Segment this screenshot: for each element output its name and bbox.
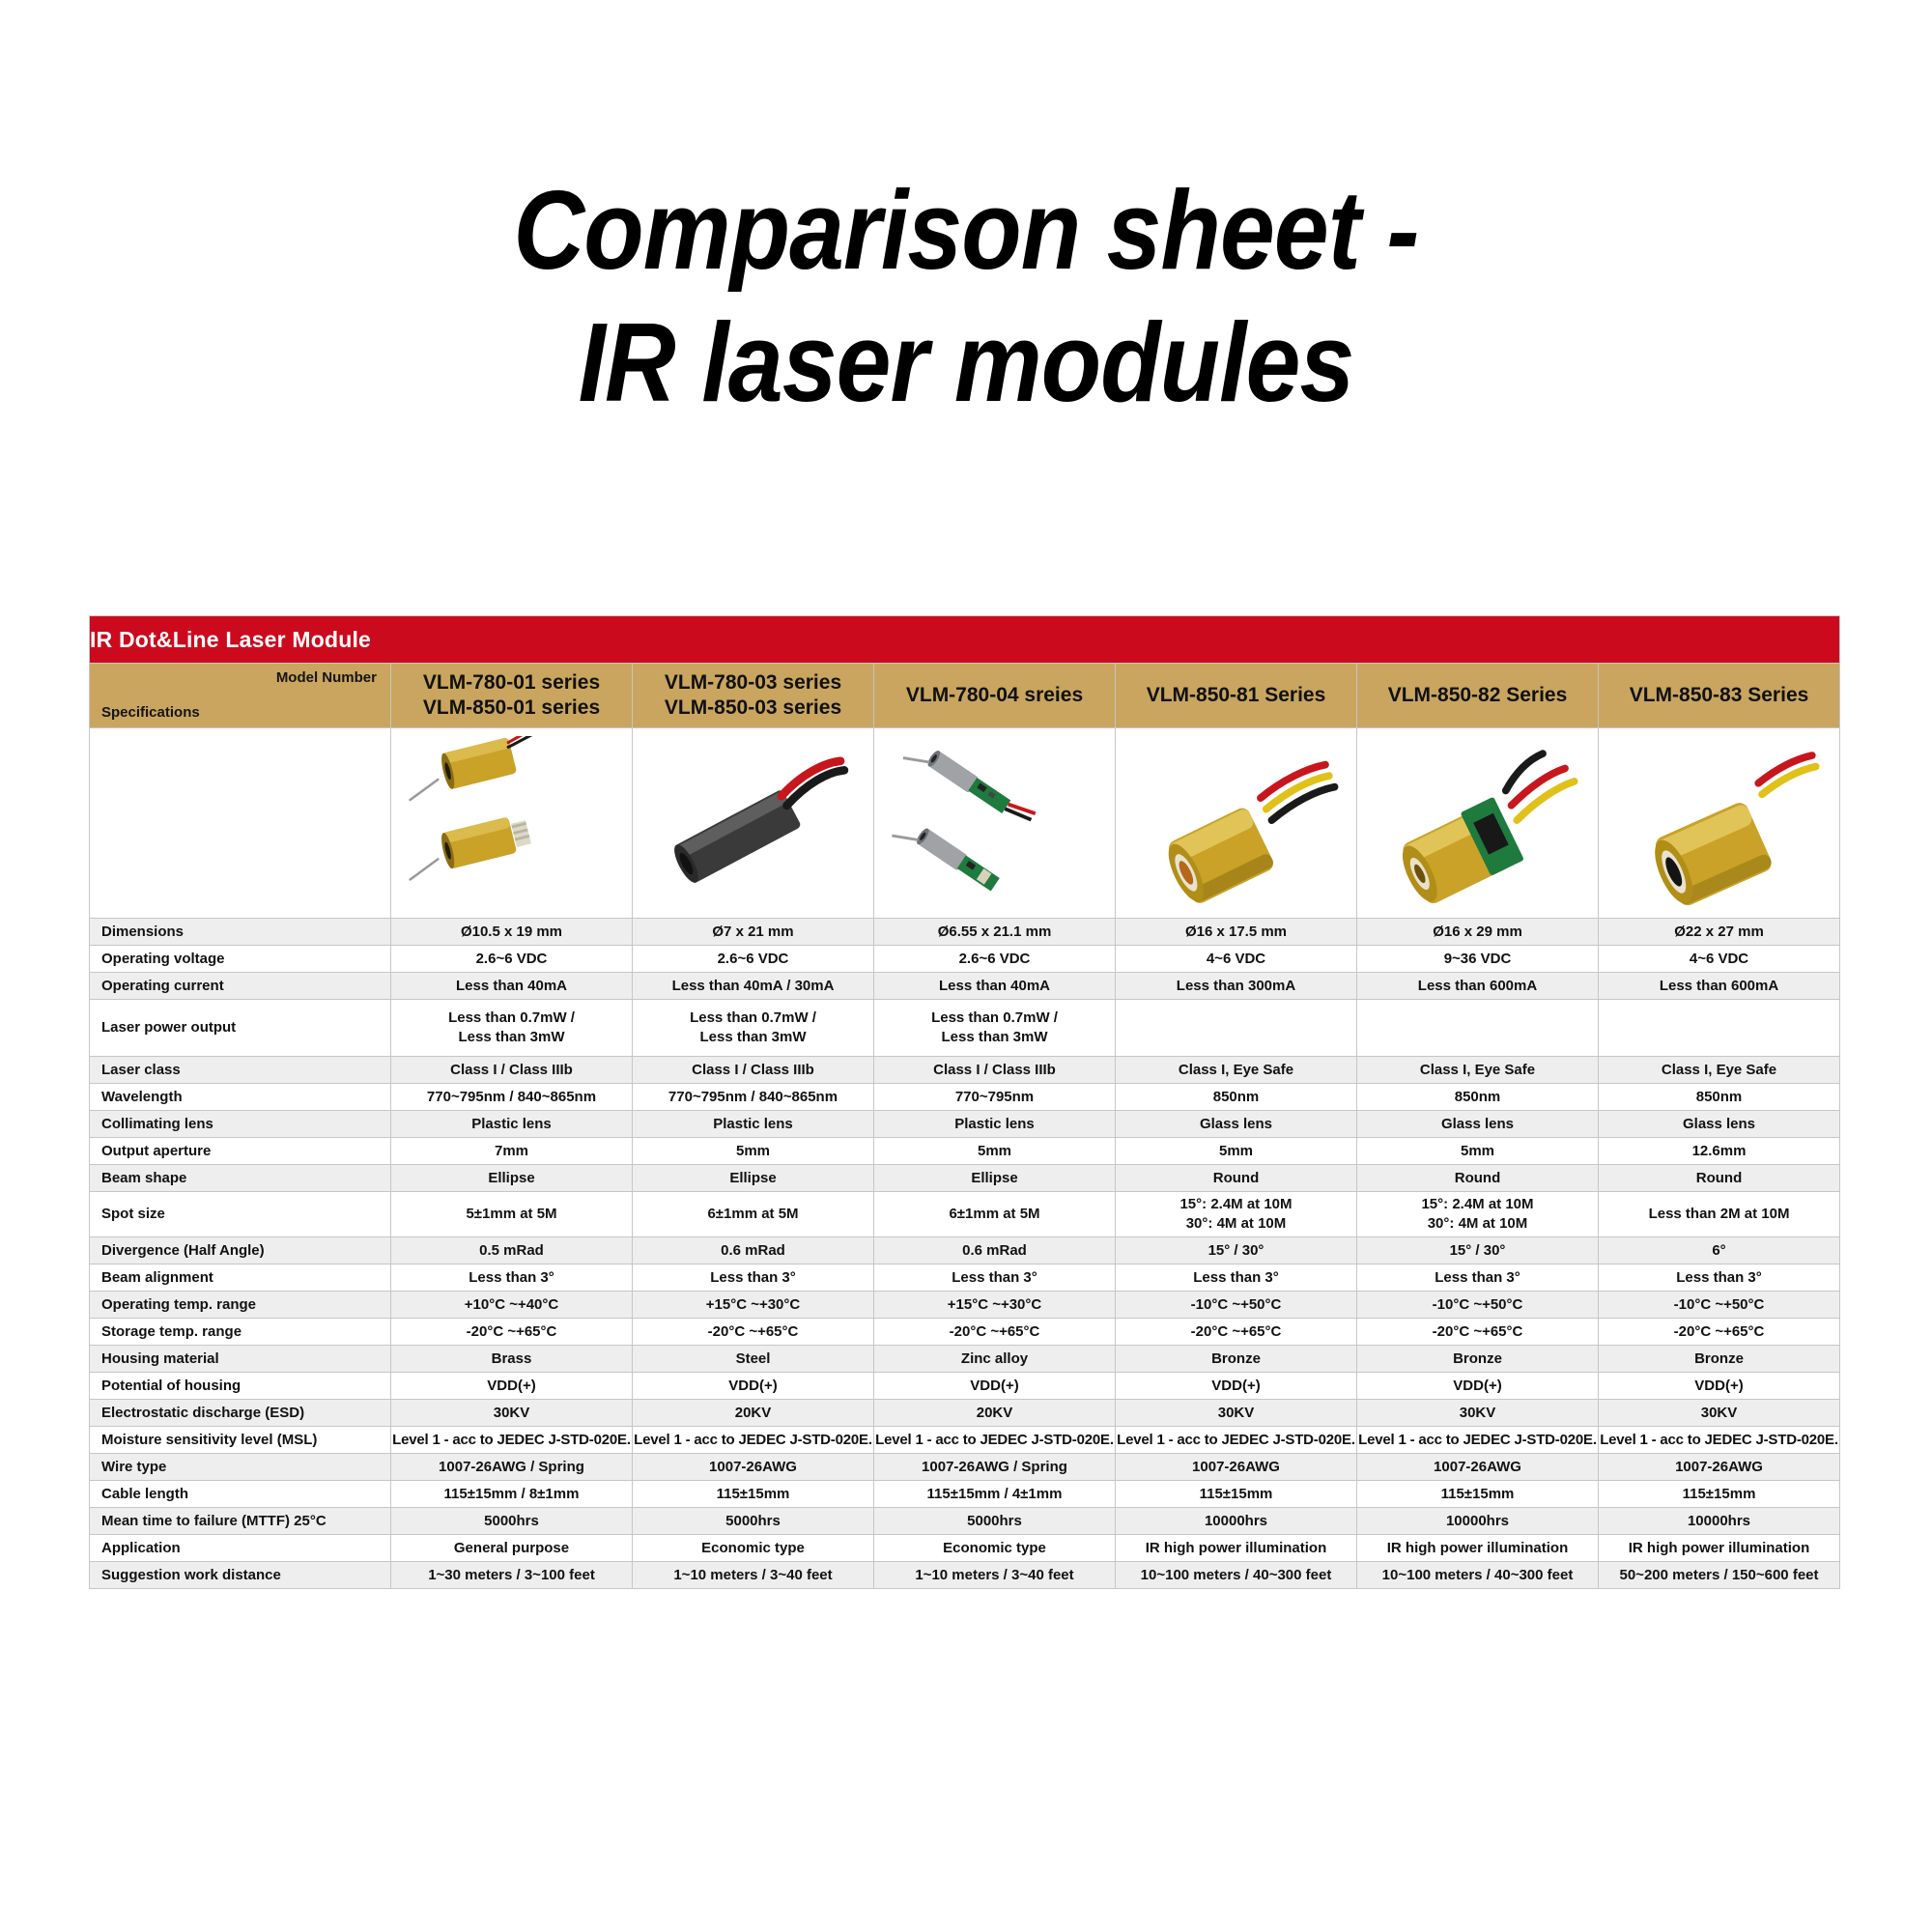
cell-col4 [1116, 1000, 1357, 1057]
table-row: Output aperture7mm5mm5mm5mm5mm12.6mm [90, 1138, 1840, 1165]
cell-col2: Economic type [633, 1535, 874, 1562]
cell-col6: IR high power illumination [1599, 1535, 1840, 1562]
table-row: Operating voltage2.6~6 VDC2.6~6 VDC2.6~6… [90, 946, 1840, 973]
cell-col4: Less than 300mA [1116, 973, 1357, 1000]
row-label: Divergence (Half Angle) [90, 1237, 391, 1264]
cell-col4: -20°C ~+65°C [1116, 1319, 1357, 1346]
cell-col6: 1007-26AWG [1599, 1454, 1840, 1481]
cell-col6: Less than 600mA [1599, 973, 1840, 1000]
specifications-label: Specifications [101, 704, 200, 722]
cell-col6: -10°C ~+50°C [1599, 1292, 1840, 1319]
row-label: Output aperture [90, 1138, 391, 1165]
cell-col6: 12.6mm [1599, 1138, 1840, 1165]
row-label: Spot size [90, 1192, 391, 1237]
cell-col4: Bronze [1116, 1346, 1357, 1373]
cell-col5: 30KV [1357, 1400, 1599, 1427]
cell-col2: Less than 3° [633, 1264, 874, 1292]
cell-col2: Plastic lens [633, 1111, 874, 1138]
column-header-col2[interactable]: VLM-780-03 seriesVLM-850-03 series [633, 664, 874, 728]
cell-line: Less than 3mW [633, 1028, 873, 1047]
cell-col6: -20°C ~+65°C [1599, 1319, 1840, 1346]
cell-col4: Class I, Eye Safe [1116, 1057, 1357, 1084]
cell-col5: 15°: 2.4M at 10M30°: 4M at 10M [1357, 1192, 1599, 1237]
cell-col6: VDD(+) [1599, 1373, 1840, 1400]
cell-col6: Ø22 x 27 mm [1599, 919, 1840, 946]
cell-col1: 2.6~6 VDC [391, 946, 633, 973]
cell-col1: 5000hrs [391, 1508, 633, 1535]
row-label: Operating current [90, 973, 391, 1000]
cell-col1: Less than 0.7mW /Less than 3mW [391, 1000, 633, 1057]
cell-line: Less than 3mW [391, 1028, 632, 1047]
cell-line: Less than 2M at 10M [1599, 1205, 1839, 1224]
cell-col2: Ellipse [633, 1165, 874, 1192]
column-header-line: VLM-780-03 series [633, 670, 873, 696]
cell-col1: 0.5 mRad [391, 1237, 633, 1264]
table-row: Beam alignmentLess than 3°Less than 3°Le… [90, 1264, 1840, 1292]
table-row: Spot size5±1mm at 5M6±1mm at 5M6±1mm at … [90, 1192, 1840, 1237]
cell-col3: Level 1 - acc to JEDEC J-STD-020E. [874, 1427, 1116, 1454]
cell-col5: 5mm [1357, 1138, 1599, 1165]
product-image-cell-col4 [1116, 728, 1357, 919]
cell-col1: 1~30 meters / 3~100 feet [391, 1562, 633, 1589]
table-band-row: IR Dot&Line Laser Module [90, 616, 1840, 664]
row-label: Dimensions [90, 919, 391, 946]
cell-col5: Round [1357, 1165, 1599, 1192]
cell-col3: Class I / Class IIIb [874, 1057, 1116, 1084]
cell-col5: Ø16 x 29 mm [1357, 919, 1599, 946]
cell-col2: 1~10 meters / 3~40 feet [633, 1562, 874, 1589]
column-header-line: VLM-850-82 Series [1357, 683, 1598, 708]
cell-col1: Plastic lens [391, 1111, 633, 1138]
column-header-line: VLM-850-83 Series [1599, 683, 1839, 708]
cell-col5: -20°C ~+65°C [1357, 1319, 1599, 1346]
cell-col6: Level 1 - acc to JEDEC J-STD-020E. [1599, 1427, 1840, 1454]
cell-line: 5±1mm at 5M [391, 1205, 632, 1224]
cell-col2: Less than 0.7mW /Less than 3mW [633, 1000, 874, 1057]
table-row: Storage temp. range-20°C ~+65°C-20°C ~+6… [90, 1319, 1840, 1346]
cell-col2: 6±1mm at 5M [633, 1192, 874, 1237]
cell-col4: 5mm [1116, 1138, 1357, 1165]
cell-line: Less than 3mW [874, 1028, 1115, 1047]
brass-barrel-pcb-laser-icon [1357, 732, 1598, 914]
cell-col5: 10000hrs [1357, 1508, 1599, 1535]
cell-col4: Glass lens [1116, 1111, 1357, 1138]
cell-col2: 5mm [633, 1138, 874, 1165]
table-row: Moisture sensitivity level (MSL)Level 1 … [90, 1427, 1840, 1454]
cell-col1: Class I / Class IIIb [391, 1057, 633, 1084]
product-image-cell-col2 [633, 728, 874, 919]
cell-line: 30°: 4M at 10M [1116, 1214, 1356, 1234]
cell-col1: General purpose [391, 1535, 633, 1562]
cell-col1: VDD(+) [391, 1373, 633, 1400]
table-row: Operating temp. range+10°C ~+40°C+15°C ~… [90, 1292, 1840, 1319]
table-row: Suggestion work distance1~30 meters / 3~… [90, 1562, 1840, 1589]
product-image-cell-col1 [391, 728, 633, 919]
cell-col3: Zinc alloy [874, 1346, 1116, 1373]
cell-col1: Ellipse [391, 1165, 633, 1192]
table-row: DimensionsØ10.5 x 19 mmØ7 x 21 mmØ6.55 x… [90, 919, 1840, 946]
band-label: IR Dot&Line Laser Module [90, 616, 1840, 664]
cell-col4: Less than 3° [1116, 1264, 1357, 1292]
cell-col2: Steel [633, 1346, 874, 1373]
cell-col6 [1599, 1000, 1840, 1057]
cell-line: 30°: 4M at 10M [1357, 1214, 1598, 1234]
column-header-line: VLM-780-04 sreies [874, 683, 1115, 708]
cell-col5: Glass lens [1357, 1111, 1599, 1138]
cell-col2: -20°C ~+65°C [633, 1319, 874, 1346]
column-header-line: VLM-850-03 series [633, 696, 873, 721]
product-image-cell-col3 [874, 728, 1116, 919]
product-image-row [90, 728, 1840, 919]
comparison-sheet-page: Comparison sheet - IR laser modules IR D… [0, 0, 1932, 1932]
cell-col2: +15°C ~+30°C [633, 1292, 874, 1319]
cell-col3: Less than 40mA [874, 973, 1116, 1000]
cell-col1: 770~795nm / 840~865nm [391, 1084, 633, 1111]
cell-line: Less than 0.7mW / [874, 1009, 1115, 1028]
cell-col1: Ø10.5 x 19 mm [391, 919, 633, 946]
table-row: Laser power outputLess than 0.7mW /Less … [90, 1000, 1840, 1057]
cell-col1: Less than 3° [391, 1264, 633, 1292]
table-row: Laser classClass I / Class IIIbClass I /… [90, 1057, 1840, 1084]
cell-col3: VDD(+) [874, 1373, 1116, 1400]
cell-col1: 7mm [391, 1138, 633, 1165]
column-header-line: VLM-850-01 series [391, 696, 632, 721]
pcb-open-frame-laser-pair-icon [874, 732, 1115, 914]
cell-col1: +10°C ~+40°C [391, 1292, 633, 1319]
row-label: Laser power output [90, 1000, 391, 1057]
cell-col4: -10°C ~+50°C [1116, 1292, 1357, 1319]
table-row: ApplicationGeneral purposeEconomic typeE… [90, 1535, 1840, 1562]
cell-col1: Less than 40mA [391, 973, 633, 1000]
cell-col6: 30KV [1599, 1400, 1840, 1427]
table-row: Cable length115±15mm / 8±1mm115±15mm115±… [90, 1481, 1840, 1508]
cell-col5: Bronze [1357, 1346, 1599, 1373]
cell-line: Less than 0.7mW / [633, 1009, 873, 1028]
row-label: Potential of housing [90, 1373, 391, 1400]
row-label: Wavelength [90, 1084, 391, 1111]
cell-col4: Round [1116, 1165, 1357, 1192]
page-title-line-2: IR laser modules [116, 297, 1816, 429]
column-header-line: VLM-850-81 Series [1116, 683, 1356, 708]
column-header-line: VLM-780-01 series [391, 670, 632, 696]
page-title-line-1: Comparison sheet - [116, 164, 1816, 297]
cell-col3: Ellipse [874, 1165, 1116, 1192]
row-label: Mean time to failure (MTTF) 25°C [90, 1508, 391, 1535]
comparison-table: IR Dot&Line Laser ModuleModel NumberSpec… [89, 615, 1840, 1589]
cell-col6: Less than 3° [1599, 1264, 1840, 1292]
cell-col5: Less than 3° [1357, 1264, 1599, 1292]
cell-col1: -20°C ~+65°C [391, 1319, 633, 1346]
cell-col5: 850nm [1357, 1084, 1599, 1111]
cell-col5: 1007-26AWG [1357, 1454, 1599, 1481]
cell-col4: 850nm [1116, 1084, 1357, 1111]
row-label: Suggestion work distance [90, 1562, 391, 1589]
product-image-cell-col6 [1599, 728, 1840, 919]
cell-col5: Class I, Eye Safe [1357, 1057, 1599, 1084]
table-row: Wire type1007-26AWG / Spring1007-26AWG10… [90, 1454, 1840, 1481]
comparison-table-body: IR Dot&Line Laser ModuleModel NumberSpec… [90, 616, 1840, 1589]
comparison-table-wrapper: IR Dot&Line Laser ModuleModel NumberSpec… [89, 615, 1839, 1589]
cell-col3: Economic type [874, 1535, 1116, 1562]
cell-col6: Glass lens [1599, 1111, 1840, 1138]
cell-col3: -20°C ~+65°C [874, 1319, 1116, 1346]
cell-col1: 5±1mm at 5M [391, 1192, 633, 1237]
cell-col2: 1007-26AWG [633, 1454, 874, 1481]
cell-col1: 115±15mm / 8±1mm [391, 1481, 633, 1508]
cell-col4: IR high power illumination [1116, 1535, 1357, 1562]
cell-col4: 15° / 30° [1116, 1237, 1357, 1264]
row-label: Application [90, 1535, 391, 1562]
column-header-col4[interactable]: VLM-850-81 Series [1116, 664, 1357, 728]
model-number-label: Model Number [276, 669, 377, 687]
table-row: Beam shapeEllipseEllipseEllipseRoundRoun… [90, 1165, 1840, 1192]
row-label: Storage temp. range [90, 1319, 391, 1346]
column-header-col3[interactable]: VLM-780-04 sreies [874, 664, 1116, 728]
cell-col3: 1007-26AWG / Spring [874, 1454, 1116, 1481]
cell-col2: 115±15mm [633, 1481, 874, 1508]
cell-col5: Level 1 - acc to JEDEC J-STD-020E. [1357, 1427, 1599, 1454]
cell-line: 6±1mm at 5M [633, 1205, 873, 1224]
cell-line: 15°: 2.4M at 10M [1357, 1195, 1598, 1214]
cell-col4: 10000hrs [1116, 1508, 1357, 1535]
cell-col1: 1007-26AWG / Spring [391, 1454, 633, 1481]
cell-col1: Brass [391, 1346, 633, 1373]
cell-line: 6±1mm at 5M [874, 1205, 1115, 1224]
row-label: Cable length [90, 1481, 391, 1508]
cell-col3: 2.6~6 VDC [874, 946, 1116, 973]
cell-col2: Less than 40mA / 30mA [633, 973, 874, 1000]
cell-col1: 30KV [391, 1400, 633, 1427]
table-row: Divergence (Half Angle)0.5 mRad0.6 mRad0… [90, 1237, 1840, 1264]
column-header-col5[interactable]: VLM-850-82 Series [1357, 664, 1599, 728]
table-row: Wavelength770~795nm / 840~865nm770~795nm… [90, 1084, 1840, 1111]
product-image-cell-col5 [1357, 728, 1599, 919]
cell-col5: IR high power illumination [1357, 1535, 1599, 1562]
cell-col4: VDD(+) [1116, 1373, 1357, 1400]
cell-col4: 1007-26AWG [1116, 1454, 1357, 1481]
cell-col6: 115±15mm [1599, 1481, 1840, 1508]
cell-col2: 0.6 mRad [633, 1237, 874, 1264]
cell-col5: 115±15mm [1357, 1481, 1599, 1508]
cell-col3: Ø6.55 x 21.1 mm [874, 919, 1116, 946]
cell-col2: 770~795nm / 840~865nm [633, 1084, 874, 1111]
cell-col5: -10°C ~+50°C [1357, 1292, 1599, 1319]
cell-col5 [1357, 1000, 1599, 1057]
cell-col6: Round [1599, 1165, 1840, 1192]
cell-col3: 770~795nm [874, 1084, 1116, 1111]
cell-col6: 50~200 meters / 150~600 feet [1599, 1562, 1840, 1589]
brass-dot-laser-pair-icon [391, 732, 632, 914]
cell-col3: 0.6 mRad [874, 1237, 1116, 1264]
cell-col4: Level 1 - acc to JEDEC J-STD-020E. [1116, 1427, 1357, 1454]
brass-wide-barrel-laser-icon [1599, 732, 1839, 914]
cell-col6: Bronze [1599, 1346, 1840, 1373]
table-row: Electrostatic discharge (ESD)30KV20KV20K… [90, 1400, 1840, 1427]
cell-line: 15°: 2.4M at 10M [1116, 1195, 1356, 1214]
row-label: Moisture sensitivity level (MSL) [90, 1427, 391, 1454]
column-header-col6[interactable]: VLM-850-83 Series [1599, 664, 1840, 728]
cell-col4: Ø16 x 17.5 mm [1116, 919, 1357, 946]
cell-col3: Less than 3° [874, 1264, 1116, 1292]
row-label: Beam alignment [90, 1264, 391, 1292]
cell-col2: Ø7 x 21 mm [633, 919, 874, 946]
product-image-row-spacer [90, 728, 391, 919]
row-label: Electrostatic discharge (ESD) [90, 1400, 391, 1427]
table-header-row: Model NumberSpecificationsVLM-780-01 ser… [90, 664, 1840, 728]
cell-col6: Class I, Eye Safe [1599, 1057, 1840, 1084]
cell-col3: 115±15mm / 4±1mm [874, 1481, 1116, 1508]
cell-col4: 115±15mm [1116, 1481, 1357, 1508]
spec-corner-cell: Model NumberSpecifications [90, 664, 391, 728]
table-row: Housing materialBrassSteelZinc alloyBron… [90, 1346, 1840, 1373]
table-row: Operating currentLess than 40mALess than… [90, 973, 1840, 1000]
cell-col3: 5mm [874, 1138, 1116, 1165]
row-label: Wire type [90, 1454, 391, 1481]
cell-col2: 5000hrs [633, 1508, 874, 1535]
cell-col6: 6° [1599, 1237, 1840, 1264]
cell-col6: Less than 2M at 10M [1599, 1192, 1840, 1237]
page-title: Comparison sheet - IR laser modules [116, 164, 1816, 429]
cell-col3: Less than 0.7mW /Less than 3mW [874, 1000, 1116, 1057]
row-label: Housing material [90, 1346, 391, 1373]
cell-col3: 6±1mm at 5M [874, 1192, 1116, 1237]
row-label: Collimating lens [90, 1111, 391, 1138]
cell-col6: 10000hrs [1599, 1508, 1840, 1535]
cell-col2: VDD(+) [633, 1373, 874, 1400]
cell-col4: 10~100 meters / 40~300 feet [1116, 1562, 1357, 1589]
cell-col3: +15°C ~+30°C [874, 1292, 1116, 1319]
cell-col3: 5000hrs [874, 1508, 1116, 1535]
cell-col2: 2.6~6 VDC [633, 946, 874, 973]
table-row: Collimating lensPlastic lensPlastic lens… [90, 1111, 1840, 1138]
row-label: Operating temp. range [90, 1292, 391, 1319]
row-label: Operating voltage [90, 946, 391, 973]
brass-barrel-3wire-laser-icon [1116, 732, 1356, 914]
black-cylinder-laser-icon [633, 732, 873, 914]
column-header-col1[interactable]: VLM-780-01 seriesVLM-850-01 series [391, 664, 633, 728]
table-row: Potential of housingVDD(+)VDD(+)VDD(+)VD… [90, 1373, 1840, 1400]
cell-col1: Level 1 - acc to JEDEC J-STD-020E. [391, 1427, 633, 1454]
cell-col3: Plastic lens [874, 1111, 1116, 1138]
cell-line: Less than 0.7mW / [391, 1009, 632, 1028]
row-label: Laser class [90, 1057, 391, 1084]
cell-col5: 10~100 meters / 40~300 feet [1357, 1562, 1599, 1589]
cell-col5: 15° / 30° [1357, 1237, 1599, 1264]
cell-col4: 4~6 VDC [1116, 946, 1357, 973]
cell-col2: 20KV [633, 1400, 874, 1427]
row-label: Beam shape [90, 1165, 391, 1192]
cell-col6: 4~6 VDC [1599, 946, 1840, 973]
cell-col4: 30KV [1116, 1400, 1357, 1427]
cell-col5: VDD(+) [1357, 1373, 1599, 1400]
cell-col5: 9~36 VDC [1357, 946, 1599, 973]
cell-col5: Less than 600mA [1357, 973, 1599, 1000]
cell-col6: 850nm [1599, 1084, 1840, 1111]
cell-col2: Class I / Class IIIb [633, 1057, 874, 1084]
cell-col2: Level 1 - acc to JEDEC J-STD-020E. [633, 1427, 874, 1454]
cell-col3: 20KV [874, 1400, 1116, 1427]
table-row: Mean time to failure (MTTF) 25°C5000hrs5… [90, 1508, 1840, 1535]
cell-col4: 15°: 2.4M at 10M30°: 4M at 10M [1116, 1192, 1357, 1237]
cell-col3: 1~10 meters / 3~40 feet [874, 1562, 1116, 1589]
